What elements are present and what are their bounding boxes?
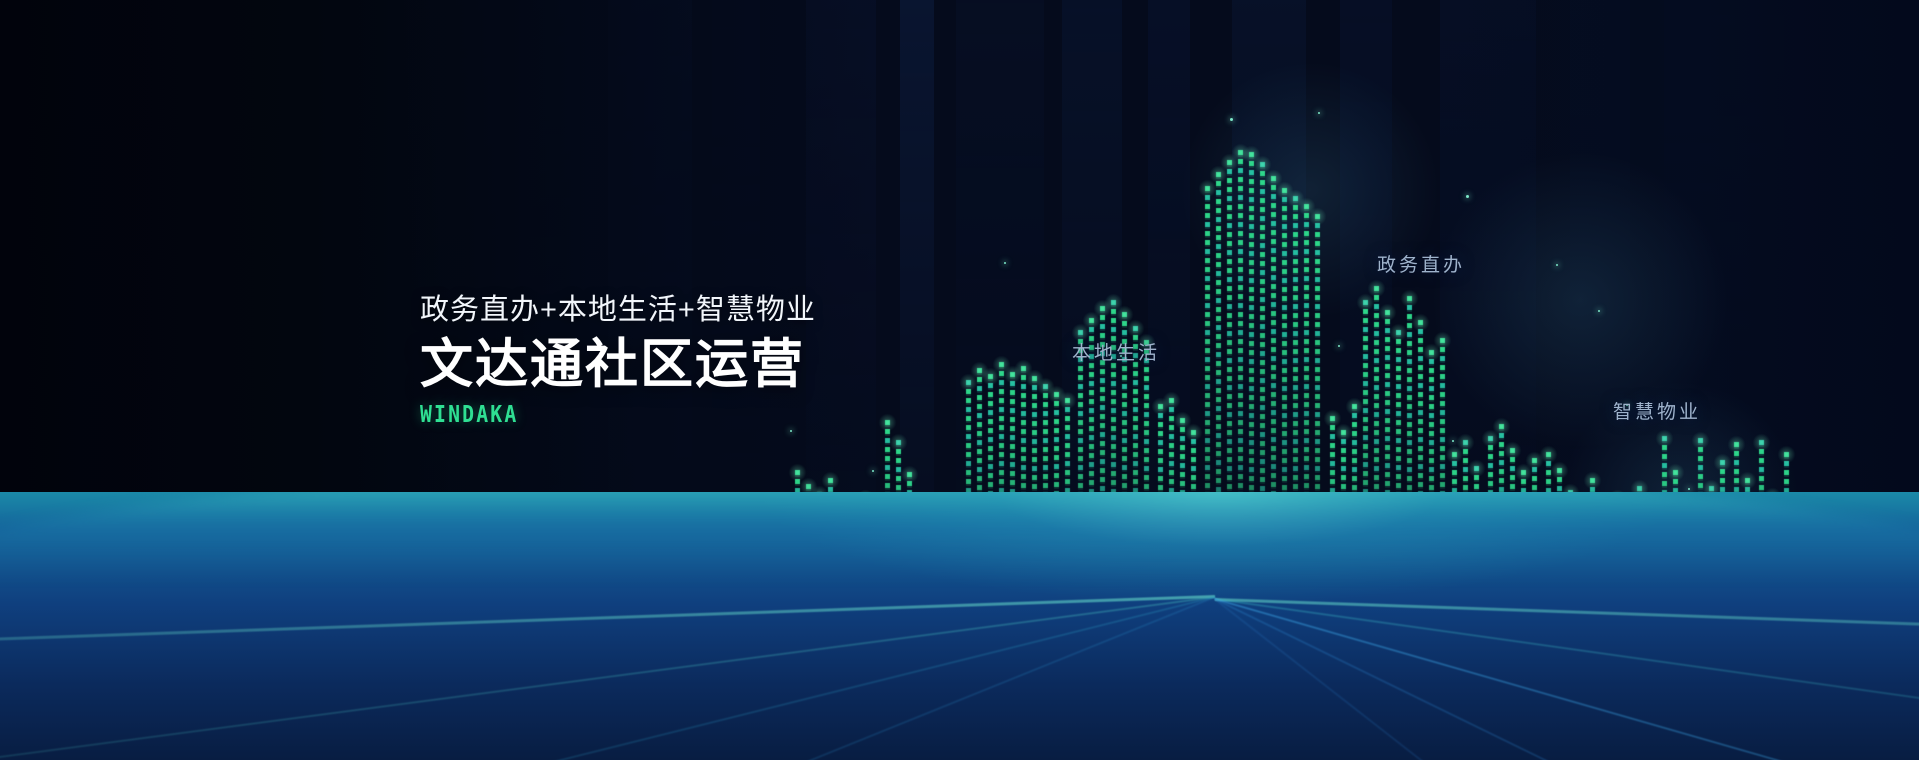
hero-subtitle: 政务直办+本地生活+智慧物业 [420,292,816,328]
perspective-ray [1214,598,1919,760]
hero-text-block: 政务直办+本地生活+智慧物业 文达通社区运营 WINDAKA [420,292,816,428]
city-label-smart-property: 智慧物业 [1613,397,1701,424]
perspective-ray [1214,598,1919,760]
city-label-government-services: 政务直办 [1377,250,1465,277]
perspective-ground [0,492,1919,760]
perspective-ray [0,595,1215,689]
perspective-ray [1215,598,1919,760]
perspective-ray [0,596,1215,760]
perspective-ray [0,596,1215,760]
hero-banner: 本地生活 政务直办 智慧物业 政务直办+本地生活+智慧物业 文达通社区运营 WI… [0,0,1919,760]
horizon-glow [0,492,1919,582]
hero-headline: 文达通社区运营 [420,334,816,397]
perspective-ray [0,596,1215,760]
perspective-ray [1214,598,1919,760]
brand-wordmark: WINDAKA [420,402,760,428]
perspective-ray [1215,598,1919,692]
city-label-local-life: 本地生活 [1072,338,1160,365]
